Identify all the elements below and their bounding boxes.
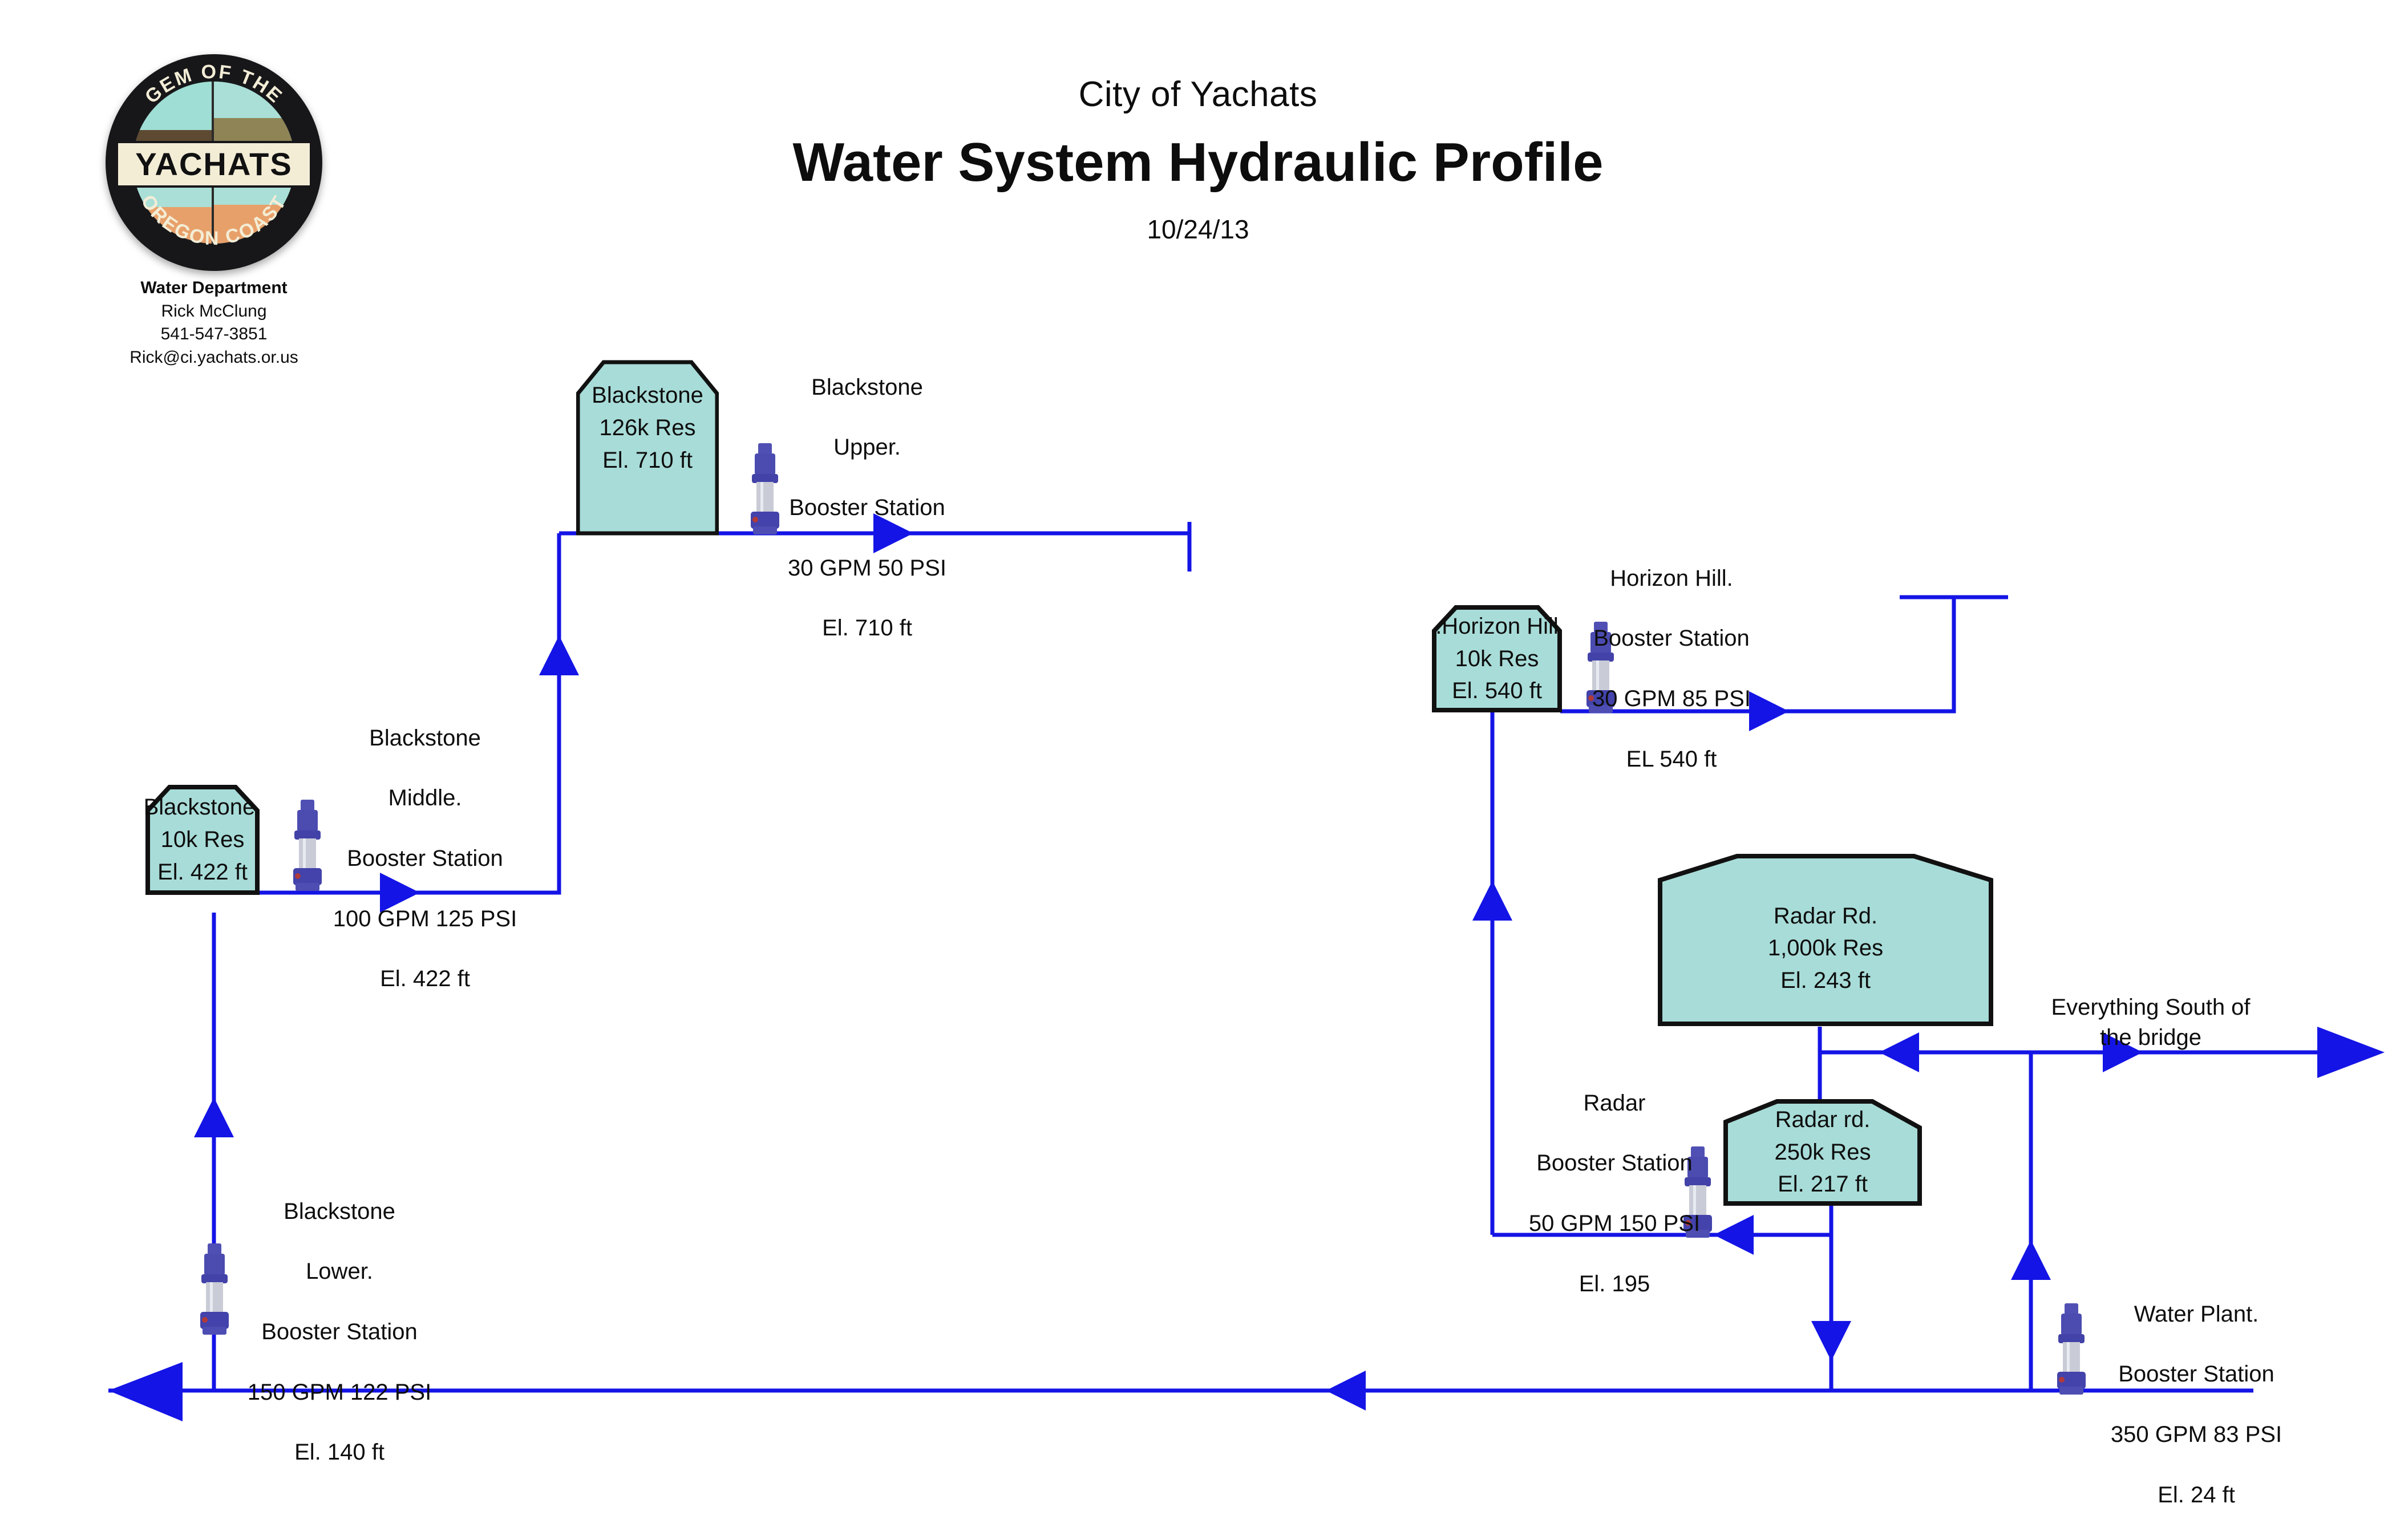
label-radar-booster: Radar Booster Station 50 GPM 150 PSI El.… <box>1500 1058 1729 1329</box>
svg-text:OREGON COAST: OREGON COAST <box>137 191 292 249</box>
label-water-plant: Water Plant. Booster Station 350 GPM 83 … <box>2082 1269 2310 1540</box>
contact-name: Rick McClung <box>68 300 359 323</box>
arrowhead-south-of-bridge-east <box>2317 1027 2385 1078</box>
bs-line-2: Booster Station <box>1557 623 1786 654</box>
tank-blackstone-126k: Blackstone 126k Res El. 710 ft <box>576 359 719 536</box>
bs-line-5: El. 422 ft <box>311 964 539 994</box>
bs-line-2: Middle. <box>311 783 539 813</box>
tank-radar-rd-1000k: Radar Rd. 1,000k Res El. 243 ft <box>1657 853 1994 1027</box>
seal-arc-text: GEM OF THE OREGON COAST <box>106 54 322 271</box>
label-blackstone-lower: Blackstone Lower. Booster Station 150 GP… <box>225 1166 454 1498</box>
tank-radar-rd-250k: Radar rd. 250k Res El. 217 ft <box>1723 1098 1923 1206</box>
label-horizon-hill: Horizon Hill. Booster Station 30 GPM 85 … <box>1557 533 1786 804</box>
svg-text:GEM OF THE: GEM OF THE <box>141 60 287 108</box>
contact-phone: 541-547-3851 <box>68 323 359 346</box>
bs-line-1: Blackstone <box>311 723 539 753</box>
seal-top-text: GEM OF THE <box>141 60 287 108</box>
bs-line-4: 30 GPM 50 PSI <box>753 553 981 583</box>
bs-line-2: Booster Station <box>2082 1359 2310 1389</box>
subtitle-city: City of Yachats <box>913 74 1483 115</box>
tank-horizon-hill-10k: .Horizon Hill 10k Res El. 540 ft <box>1432 605 1562 713</box>
bs-line-4: El. 195 <box>1500 1269 1729 1299</box>
bs-line-5: El. 140 ft <box>225 1437 454 1468</box>
bs-line-1: Radar <box>1500 1088 1729 1118</box>
label-blackstone-upper: Blackstone Upper. Booster Station 30 GPM… <box>753 342 981 674</box>
bs-line-2: Booster Station <box>1500 1148 1729 1178</box>
bs-line-3: 30 GPM 85 PSI <box>1557 684 1786 714</box>
bs-line-1: Blackstone <box>225 1197 454 1227</box>
bs-line-2: Lower. <box>225 1257 454 1287</box>
bs-line-4: El. 24 ft <box>2082 1480 2310 1510</box>
hydraulic-profile-diagram: YACHATS GEM OF THE OREGON COAST Water De… <box>0 0 2396 1454</box>
department-name: Water Department <box>68 277 359 300</box>
bs-line-4: 150 GPM 122 PSI <box>225 1377 454 1408</box>
bs-line-1: Water Plant. <box>2082 1299 2310 1330</box>
bs-line-3: 50 GPM 150 PSI <box>1500 1209 1729 1239</box>
bs-line-3: 350 GPM 83 PSI <box>2082 1420 2310 1450</box>
page-title: Water System Hydraulic Profile <box>713 131 1683 194</box>
seal-outer-ring: YACHATS GEM OF THE OREGON COAST <box>106 54 322 271</box>
bs-line-1: Horizon Hill. <box>1557 564 1786 594</box>
contact-email: Rick@ci.yachats.or.us <box>68 346 359 370</box>
bs-line-4: EL 540 ft <box>1557 744 1786 775</box>
bs-line-3: Booster Station <box>225 1317 454 1347</box>
bs-line-3: Booster Station <box>753 493 981 523</box>
seal-bottom-text: OREGON COAST <box>137 191 292 249</box>
city-seal-logo: YACHATS GEM OF THE OREGON COAST <box>106 54 322 271</box>
revision-date: 10/24/13 <box>1027 214 1369 245</box>
label-blackstone-middle: Blackstone Middle. Booster Station 100 G… <box>311 693 539 1024</box>
bs-line-5: El. 710 ft <box>753 613 981 643</box>
bs-line-4: 100 GPM 125 PSI <box>311 904 539 934</box>
department-contact-block: Water Department Rick McClung 541-547-38… <box>68 277 359 369</box>
bs-line-3: Booster Station <box>311 844 539 874</box>
bs-line-2: Upper. <box>753 432 981 463</box>
tank-blackstone-10k: Blackstone. 10k Res El. 422 ft <box>145 784 260 895</box>
bs-line-1: Blackstone <box>753 372 981 403</box>
label-south-of-bridge: Everything South of the bridge <box>2025 992 2276 1053</box>
arrowhead-bottom-main-west <box>108 1362 183 1421</box>
